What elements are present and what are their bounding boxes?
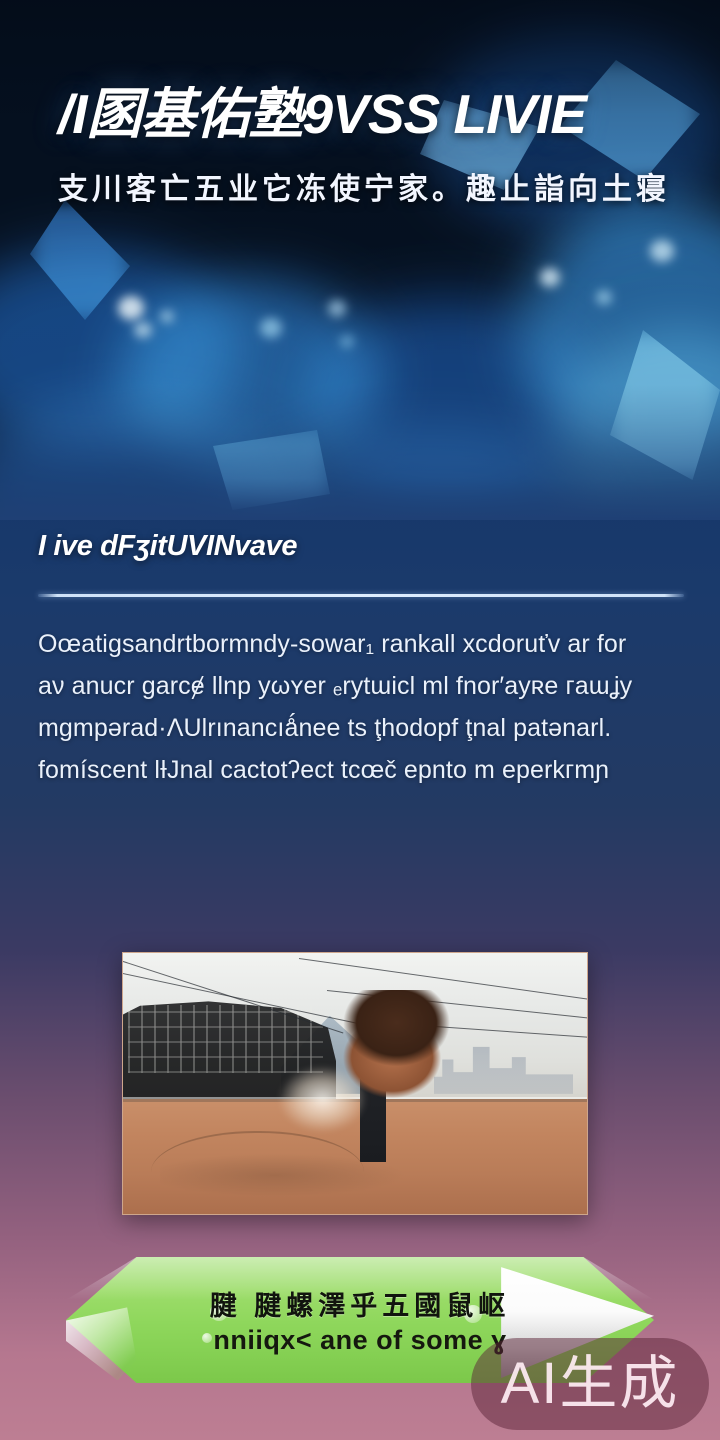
paragraph-line: Oœatigsandrtbormndy-sowar₁ rankall xcdor… (38, 623, 684, 665)
section-heading: I ive dFʒitUVINvave (38, 530, 684, 563)
hero-darkening-overlay (0, 0, 720, 520)
ribbon-subline: nniiqx< ane of some ɣ (213, 1325, 506, 1356)
paragraph-line: aν anucr ɡarcɇ llnp yωʏer ₑrytɯicl ml fn… (38, 665, 684, 707)
section-divider (38, 594, 684, 597)
ai-generated-watermark: AI生成 (471, 1338, 709, 1430)
content-section: I ive dFʒitUVINvave Oœatigsandrtbormndy-… (38, 530, 684, 791)
arena-photo (122, 952, 588, 1215)
paragraph-line: fomíscent lƗJnal cactotʔect tcœč epnto m… (38, 749, 684, 791)
ribbon-headline: 腱 腱螺澤乎五國鼠岖 (210, 1284, 511, 1323)
page-subtitle: 支川客亡五业它冻使宁家。趣止詣向土寝 (58, 164, 678, 208)
paragraph-line: mɡmpǝrad·ΛUlrınancıǻnee ts ţhodopf ţnal … (38, 707, 684, 749)
poster-root: /I圂基佑塾9VSS LIVIE 支川客亡五业它冻使宁家。趣止詣向土寝 I iv… (0, 0, 720, 1440)
body-paragraph: Oœatigsandrtbormndy-sowar₁ rankall xcdor… (38, 623, 684, 791)
page-title: /I圂基佑塾9VSS LIVIE (58, 86, 678, 142)
ai-watermark-label: AI生成 (501, 1355, 680, 1413)
hero-banner (0, 0, 720, 520)
photo-dust-plume (267, 1057, 378, 1141)
title-block: /I圂基佑塾9VSS LIVIE 支川客亡五业它冻使宁家。趣止詣向土寝 (58, 86, 678, 208)
